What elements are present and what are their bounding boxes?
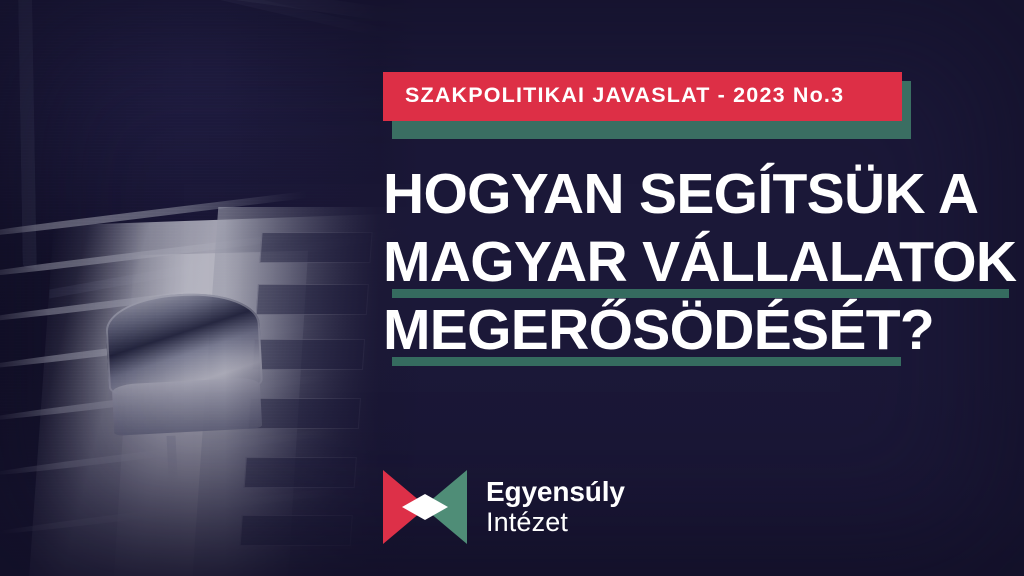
content-column: SZAKPOLITIKAI JAVASLAT - 2023 No.3 HOGYA… — [383, 0, 1024, 576]
organization-name: Egyensúly Intézet — [486, 477, 625, 537]
headline-line-2-text: MAGYAR VÁLLALATOK — [383, 228, 1024, 296]
organization-logo: Egyensúly Intézet — [383, 470, 625, 544]
eyebrow-badge: SZAKPOLITIKAI JAVASLAT - 2023 No.3 — [383, 72, 902, 121]
headline-line-2: MAGYAR VÁLLALATOK — [383, 228, 1024, 296]
headline-line-3: MEGERŐSÖDÉSÉT? — [383, 296, 1024, 364]
headline-block: HOGYAN SEGÍTSÜK A MAGYAR VÁLLALATOK MEGE… — [383, 160, 1024, 364]
poster-canvas: SZAKPOLITIKAI JAVASLAT - 2023 No.3 HOGYA… — [0, 0, 1024, 576]
eyebrow-badge-label: SZAKPOLITIKAI JAVASLAT - 2023 No.3 — [405, 83, 844, 107]
headline-line-1: HOGYAN SEGÍTSÜK A — [383, 160, 1024, 228]
headline-line-1-text: HOGYAN SEGÍTSÜK A — [383, 160, 1024, 228]
organization-name-top: Egyensúly — [486, 477, 625, 507]
eyebrow-badge-plate: SZAKPOLITIKAI JAVASLAT - 2023 No.3 — [383, 72, 902, 121]
organization-name-bottom: Intézet — [486, 507, 625, 537]
headline-line-3-text: MEGERŐSÖDÉSÉT? — [383, 296, 1024, 364]
egyensuly-intezet-mark-icon — [383, 470, 467, 544]
